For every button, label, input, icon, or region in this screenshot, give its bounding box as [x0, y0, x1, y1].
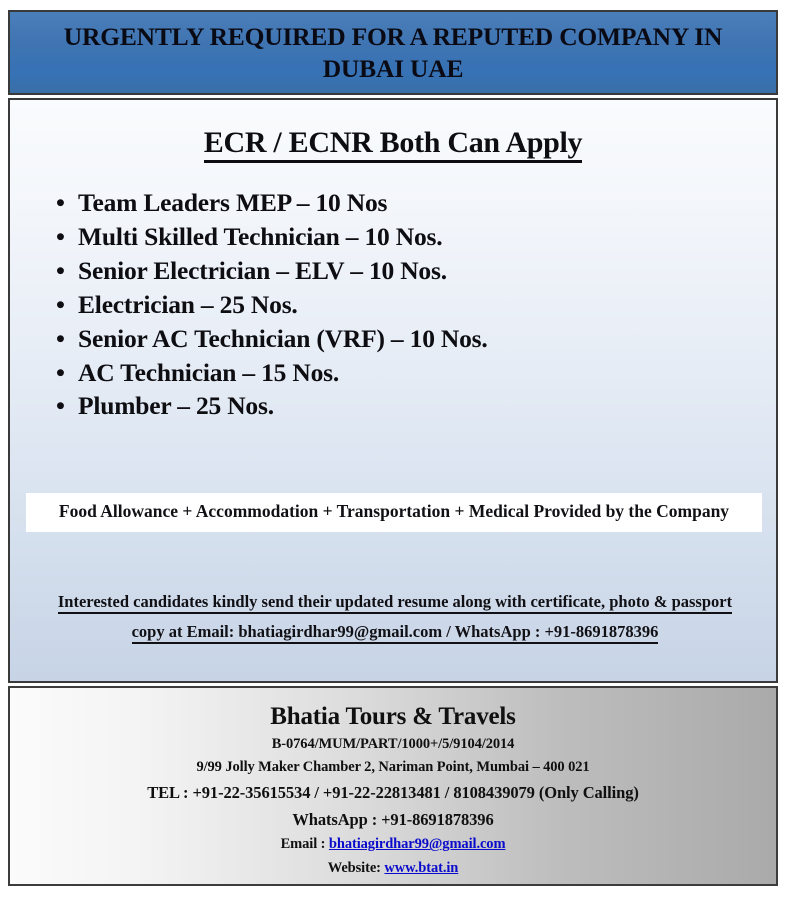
bullet-icon: •: [56, 186, 65, 220]
company-name: Bhatia Tours & Travels: [10, 688, 776, 731]
header-banner: URGENTLY REQUIRED FOR A REPUTED COMPANY …: [8, 10, 778, 95]
list-item: • Electrician – 25 Nos.: [56, 288, 776, 322]
benefits-box: Food Allowance + Accommodation + Transpo…: [26, 493, 762, 532]
body-panel: ECR / ECNR Both Can Apply • Team Leaders…: [8, 98, 778, 683]
list-item: • Senior Electrician – ELV – 10 Nos.: [56, 254, 776, 288]
position-label: Plumber – 25 Nos.: [78, 391, 274, 420]
position-label: Multi Skilled Technician – 10 Nos.: [78, 222, 442, 251]
whatsapp-number: WhatsApp : +91-8691878396: [10, 807, 776, 834]
company-address: 9/99 Jolly Maker Chamber 2, Nariman Poin…: [10, 756, 776, 779]
footer-panel: Bhatia Tours & Travels B-0764/MUM/PART/1…: [8, 686, 778, 886]
position-label: Team Leaders MEP – 10 Nos: [78, 188, 387, 217]
list-item: • Team Leaders MEP – 10 Nos: [56, 186, 776, 220]
position-label: Senior AC Technician (VRF) – 10 Nos.: [78, 324, 488, 353]
position-label: Senior Electrician – ELV – 10 Nos.: [78, 256, 447, 285]
application-instructions-text: Interested candidates kindly send their …: [58, 592, 732, 644]
bullet-icon: •: [56, 220, 65, 254]
list-item: • Multi Skilled Technician – 10 Nos.: [56, 220, 776, 254]
registration-number: B-0764/MUM/PART/1000+/5/9104/2014: [10, 731, 776, 756]
header-title: URGENTLY REQUIRED FOR A REPUTED COMPANY …: [10, 21, 776, 83]
website-link[interactable]: www.btat.in: [384, 860, 458, 876]
bullet-icon: •: [56, 254, 65, 288]
website-row: Website: www.btat.in: [10, 857, 776, 880]
bullet-icon: •: [56, 389, 65, 423]
list-item: • Plumber – 25 Nos.: [56, 389, 776, 423]
bullet-icon: •: [56, 322, 65, 356]
email-row: Email : bhatiagirdhar99@gmail.com: [10, 833, 776, 856]
bullet-icon: •: [56, 288, 65, 322]
telephone-numbers: TEL : +91-22-35615534 / +91-22-22813481 …: [10, 780, 776, 807]
position-label: AC Technician – 15 Nos.: [78, 358, 339, 387]
job-positions-list: • Team Leaders MEP – 10 Nos • Multi Skil…: [10, 160, 776, 423]
eligibility-title-text: ECR / ECNR Both Can Apply: [204, 126, 582, 163]
email-link[interactable]: bhatiagirdhar99@gmail.com: [329, 836, 506, 852]
eligibility-title: ECR / ECNR Both Can Apply: [10, 100, 776, 160]
application-instructions: Interested candidates kindly send their …: [42, 587, 748, 647]
job-advertisement-poster: URGENTLY REQUIRED FOR A REPUTED COMPANY …: [8, 10, 778, 886]
email-label: Email :: [281, 836, 329, 852]
position-label: Electrician – 25 Nos.: [78, 290, 298, 319]
bullet-icon: •: [56, 356, 65, 390]
list-item: • AC Technician – 15 Nos.: [56, 356, 776, 390]
list-item: • Senior AC Technician (VRF) – 10 Nos.: [56, 322, 776, 356]
website-label: Website:: [328, 860, 385, 876]
